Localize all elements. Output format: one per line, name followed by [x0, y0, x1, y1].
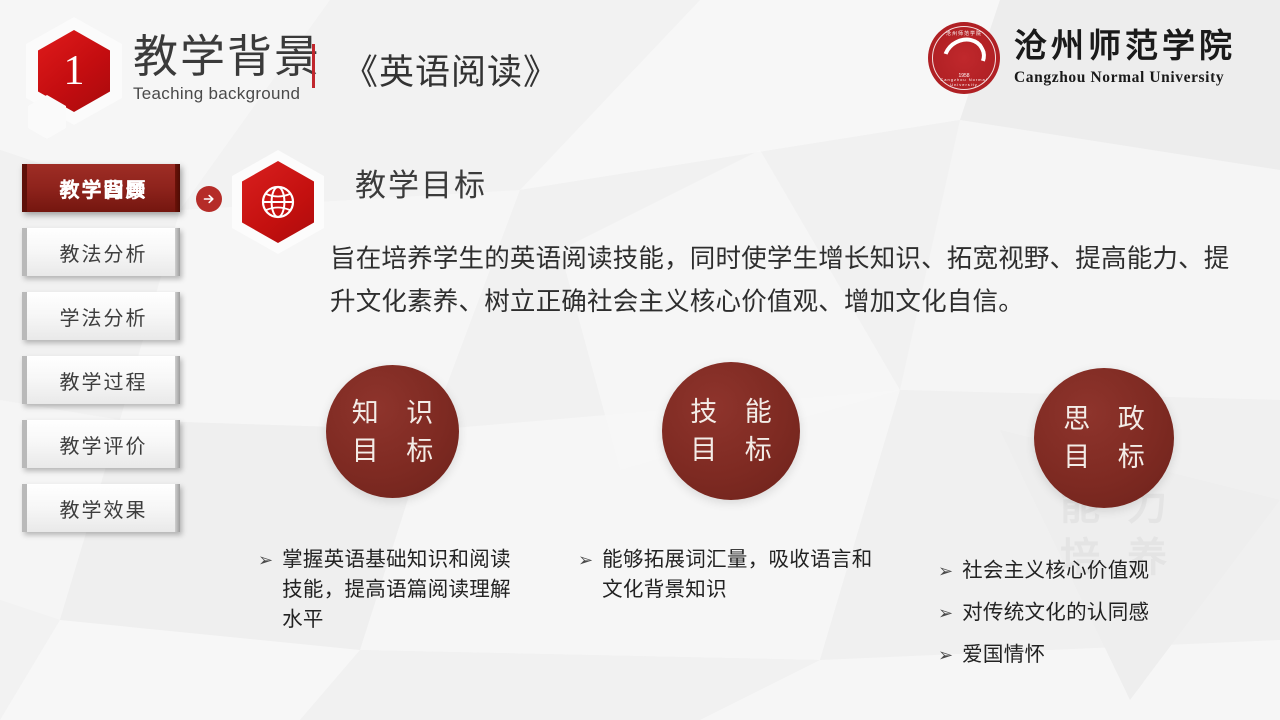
sidebar-item-label: 学法分析	[60, 302, 148, 331]
bullet-text: 对传统文化的认同感	[962, 598, 1149, 628]
goal-bullets-skill: ➢ 能够拓展词汇量，吸收语言和文化背景知识	[578, 545, 888, 609]
list-item: ➢ 爱国情怀	[938, 640, 1218, 670]
goal-circle-line-1: 知 识	[342, 394, 444, 432]
bullet-text: 掌握英语基础知识和阅读技能，提高语篇阅读理解水平	[282, 545, 528, 635]
goal-circle-line-2: 目 标	[342, 432, 444, 470]
section-body-text: 旨在培养学生的英语阅读技能，同时使学生增长知识、拓宽视野、提高能力、提升文化素养…	[330, 238, 1230, 324]
sidebar-item-label: 教学评价	[60, 430, 148, 459]
goal-circle-line-2: 目 标	[680, 431, 782, 469]
sidebar-item-teaching-method[interactable]: 教法分析	[22, 228, 180, 276]
page-title: 教学背景 Teaching background	[133, 32, 321, 104]
bullet-marker-icon: ➢	[938, 640, 953, 670]
list-item: ➢ 社会主义核心价值观	[938, 556, 1218, 586]
title-divider	[312, 44, 315, 88]
bullet-marker-icon: ➢	[938, 598, 953, 628]
bullet-marker-icon: ➢	[578, 545, 593, 575]
university-logo: 沧州师范学院 1958 Cangzhou Normal University 沧…	[928, 22, 1236, 94]
goal-circle-line-1: 思 政	[1053, 400, 1155, 438]
sidebar-item-label: 教法分析	[60, 238, 148, 267]
sidebar-item-teaching-process[interactable]: 教学过程	[22, 356, 180, 404]
arrow-right-icon[interactable]	[196, 186, 222, 212]
sidebar-item-teaching-background[interactable]: 教学背景 教学回顾	[22, 164, 180, 212]
list-item: ➢ 掌握英语基础知识和阅读技能，提高语篇阅读理解水平	[258, 545, 528, 635]
bullet-marker-icon: ➢	[258, 545, 273, 575]
university-seal-icon: 沧州师范学院 1958 Cangzhou Normal University	[928, 22, 1000, 94]
section-hexagon-badge	[232, 150, 324, 254]
list-item: ➢ 能够拓展词汇量，吸收语言和文化背景知识	[578, 545, 888, 605]
sidebar-nav[interactable]: 教学背景 教学回顾 教法分析 学法分析 教学过程 教学评价 教学效果	[22, 164, 180, 548]
step-number-badge: 1	[26, 17, 122, 125]
university-name-block: 沧州师范学院 Cangzhou Normal University	[1014, 31, 1236, 86]
goal-circle-line-1: 技 能	[680, 393, 782, 431]
goal-bullets-knowledge: ➢ 掌握英语基础知识和阅读技能，提高语篇阅读理解水平	[258, 545, 528, 639]
bullet-text: 爱国情怀	[962, 640, 1045, 670]
page-title-en: Teaching background	[133, 84, 321, 104]
sidebar-item-learning-method[interactable]: 学法分析	[22, 292, 180, 340]
university-name-cn: 沧州师范学院	[1014, 31, 1236, 64]
university-name-en: Cangzhou Normal University	[1014, 70, 1236, 86]
goal-circle-knowledge: 知 识 目 标	[326, 365, 459, 498]
sidebar-item-teaching-effect[interactable]: 教学效果	[22, 484, 180, 532]
bullet-text: 能够拓展词汇量，吸收语言和文化背景知识	[602, 545, 888, 605]
goal-circle-ideology: 思 政 目 标	[1034, 368, 1174, 508]
goal-circle-line-2: 目 标	[1053, 438, 1155, 476]
sidebar-item-label: 教学效果	[60, 494, 148, 523]
sidebar-item-label: 教学背景	[60, 174, 148, 203]
sidebar-item-teaching-evaluation[interactable]: 教学评价	[22, 420, 180, 468]
globe-icon	[242, 161, 314, 243]
page-title-cn: 教学背景	[133, 32, 321, 82]
goal-bullets-ideology: ➢ 社会主义核心价值观 ➢ 对传统文化的认同感 ➢ 爱国情怀	[938, 556, 1218, 674]
section-title: 教学目标	[355, 160, 487, 205]
goal-circle-skill: 技 能 目 标	[662, 362, 800, 500]
list-item: ➢ 对传统文化的认同感	[938, 598, 1218, 628]
sidebar-item-label: 教学过程	[60, 366, 148, 395]
bullet-text: 社会主义核心价值观	[962, 556, 1149, 586]
bullet-marker-icon: ➢	[938, 556, 953, 586]
seal-arc-bottom: Cangzhou Normal University	[928, 77, 1000, 87]
slide-header: 1 教学背景 Teaching background 《英语阅读》 沧州师范学院…	[0, 0, 1280, 130]
slide: 能 力 培 养 1 教学背景 Teaching background 《英语阅读…	[0, 0, 1280, 720]
course-name: 《英语阅读》	[343, 44, 559, 95]
seal-arc-top: 沧州师范学院	[928, 30, 1000, 37]
